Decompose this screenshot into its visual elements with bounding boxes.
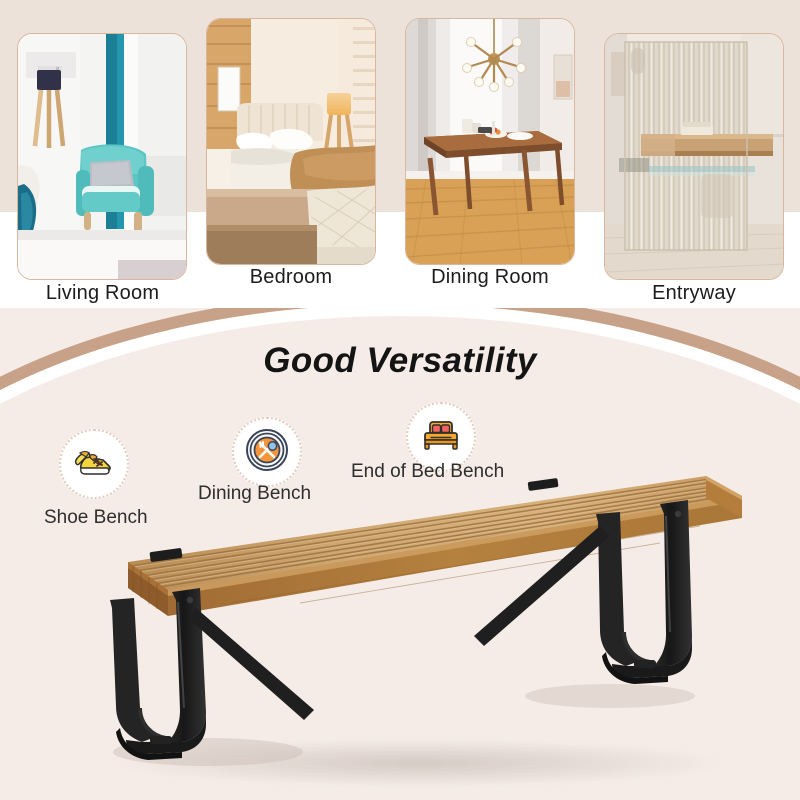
room-card-entryway[interactable] [604,33,784,280]
room-label-entryway: Entryway [604,282,784,305]
entryway-photo [605,34,783,279]
room-card-bedroom[interactable] [206,18,376,265]
bedroom-photo [207,19,375,264]
living-room-photo [18,34,186,279]
page-title: Good Versatility [0,341,800,381]
room-label-living-room: Living Room [0,282,205,305]
slat-top-bench [0,440,800,800]
room-label-bedroom: Bedroom [206,266,376,289]
marketing-image: Living Room [0,0,800,800]
room-label-dining-room: Dining Room [405,266,575,289]
room-card-dining-room[interactable] [405,18,575,265]
room-card-living-room[interactable] [17,33,187,280]
dining-room-photo [406,19,574,264]
